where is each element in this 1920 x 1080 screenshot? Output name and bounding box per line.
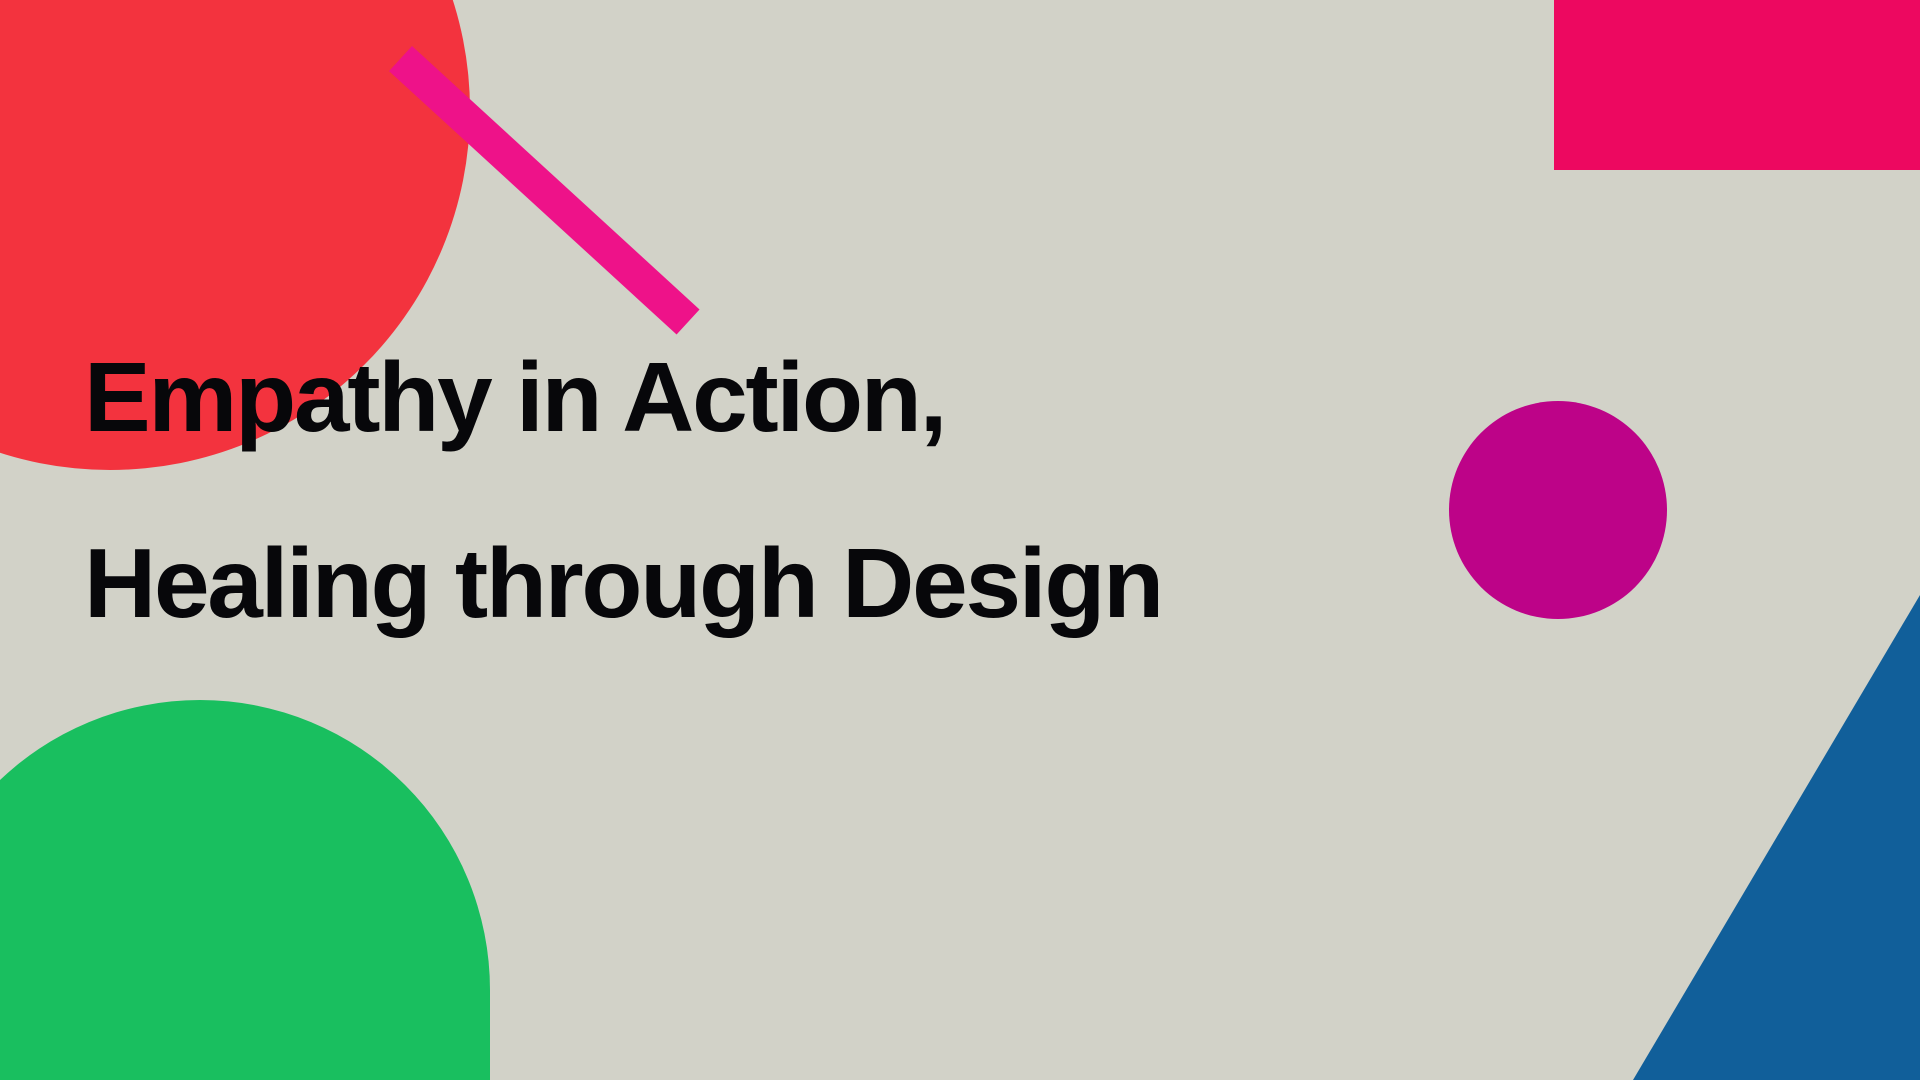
presentation-slide: Empathy in Action, Healing through Desig… [0,0,1920,1080]
green-arch-decoration [0,700,490,1080]
page-title-line-1: Empathy in Action, [84,351,1206,444]
crimson-rectangle-decoration [1554,0,1920,170]
blue-triangle-decoration [1600,560,1920,1080]
page-title: Empathy in Action, Healing through Desig… [84,258,1206,723]
page-title-line-2: Healing through Design [84,537,1206,630]
